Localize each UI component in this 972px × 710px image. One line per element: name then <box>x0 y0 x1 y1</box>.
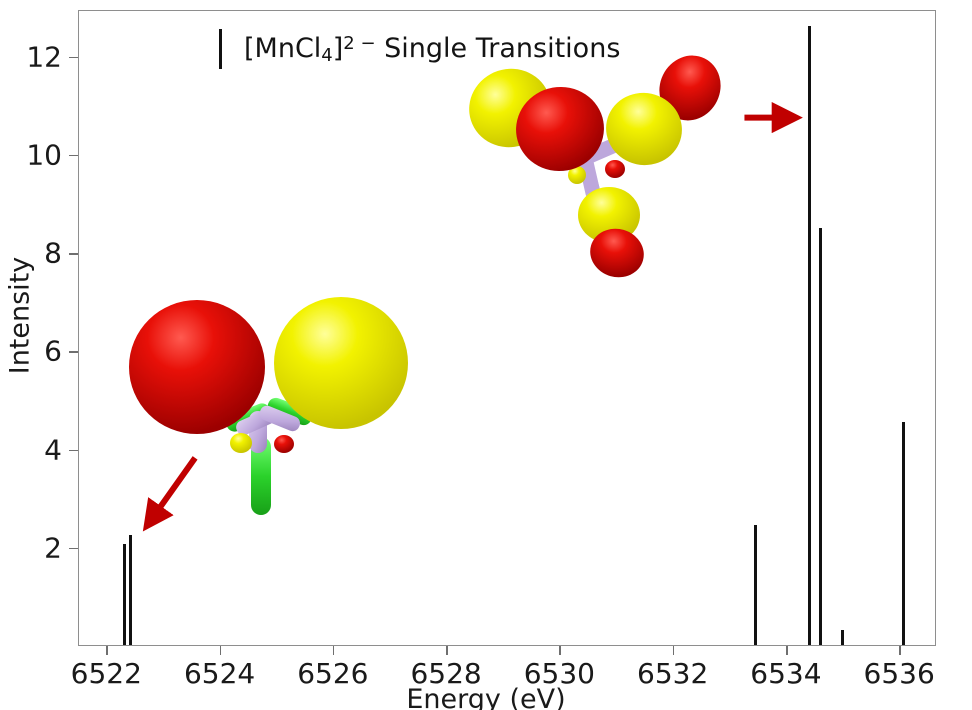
legend-formula-prefix: [MnCl <box>244 33 321 64</box>
y-axis-tick-label: 4 <box>44 433 62 466</box>
y-axis-tick-label: 8 <box>44 237 62 270</box>
legend-label-suffix: Single Transitions <box>384 33 620 64</box>
x-axis-tick <box>446 646 448 655</box>
y-axis-tick <box>69 351 78 353</box>
plot-frame: [MnCl4]2 − Single Transitions <box>78 10 936 646</box>
x-axis-title: Energy (eV) <box>0 684 972 710</box>
legend-formula-subscript: 4 <box>321 45 332 66</box>
y-axis-tick-label: 2 <box>44 531 62 564</box>
legend-formula-bracket: ] <box>333 33 344 64</box>
y-axis-tick <box>69 155 78 157</box>
legend-label: [MnCl4]2 − Single Transitions <box>244 33 620 66</box>
legend-marker-line <box>219 29 222 69</box>
arrow-to-low-energy-peak <box>150 458 195 522</box>
y-axis-tick-label: 10 <box>26 138 62 171</box>
y-axis-tick-label: 6 <box>44 335 62 368</box>
legend: [MnCl4]2 − Single Transitions <box>219 29 620 69</box>
y-axis-tick <box>69 548 78 550</box>
y-axis-tick-label: 12 <box>26 40 62 73</box>
x-axis-tick <box>786 646 788 655</box>
y-axis-tick <box>69 450 78 452</box>
x-axis-tick <box>559 646 561 655</box>
x-axis-tick <box>899 646 901 655</box>
x-axis-tick <box>220 646 222 655</box>
y-axis-title: Intensity <box>5 186 36 446</box>
legend-formula-superscript: 2 − <box>343 33 375 54</box>
x-axis-tick <box>673 646 675 655</box>
y-axis-tick <box>69 57 78 59</box>
annotation-arrows <box>79 11 935 645</box>
x-axis-tick <box>333 646 335 655</box>
spectrum-figure: 24681012 Intensity <box>0 0 972 710</box>
plot-area: [MnCl4]2 − Single Transitions <box>79 11 935 645</box>
x-axis-tick <box>106 646 108 655</box>
y-axis-tick <box>69 253 78 255</box>
